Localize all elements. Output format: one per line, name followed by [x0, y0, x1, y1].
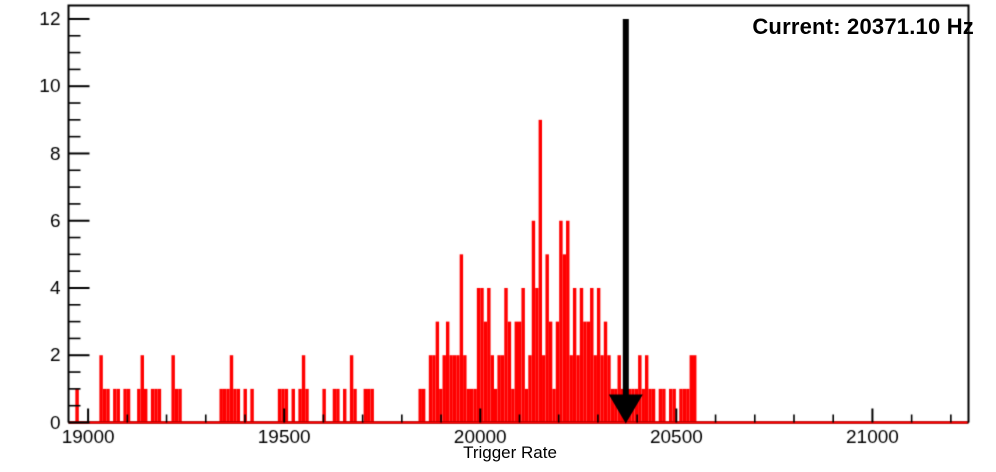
x-axis-title: Trigger Rate — [0, 443, 996, 463]
histogram-canvas — [0, 0, 996, 472]
current-rate-label: Current: 20371.10 Hz — [752, 14, 974, 40]
x-axis-title-text: Trigger Rate — [463, 443, 557, 462]
chart-root: Current: 20371.10 Hz Trigger Rate — [0, 0, 996, 472]
